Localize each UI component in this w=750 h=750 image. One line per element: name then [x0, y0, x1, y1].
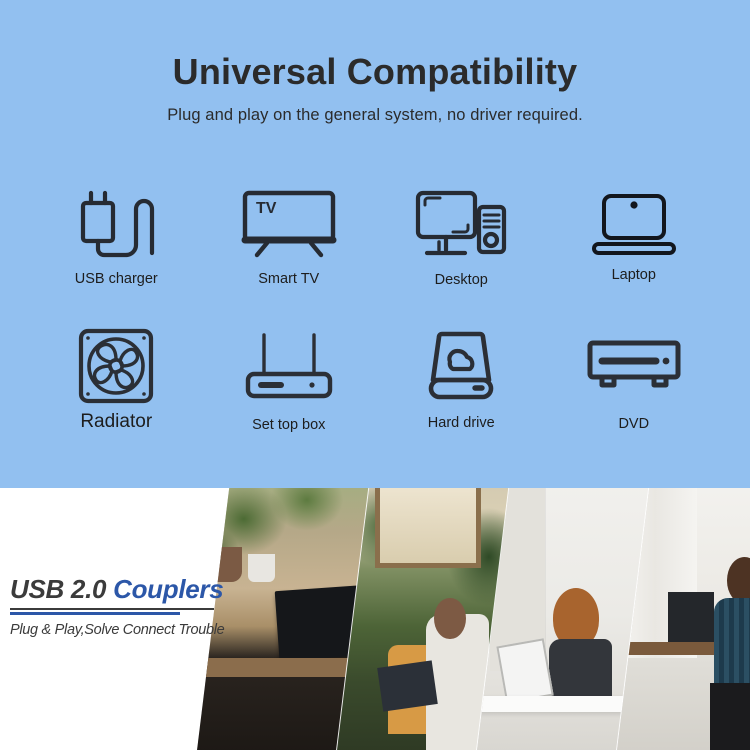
compat-item-smart-tv: TV Smart TV	[203, 185, 376, 288]
page-subtitle: Plug and play on the general system, no …	[0, 106, 750, 125]
compat-item-radiator: Radiator	[30, 327, 203, 433]
compat-item-label: DVD	[618, 416, 649, 432]
banner-text-block: USB 2.0 Couplers Plug & Play,Solve Conne…	[10, 576, 225, 638]
hard-drive-cloud-icon	[425, 327, 497, 405]
compat-item-label: Hard drive	[428, 415, 495, 431]
compat-item-label: Smart TV	[258, 271, 319, 287]
icon-row-1: USB charger TV Smart TV	[30, 185, 720, 288]
page-title: Universal Compatibility	[0, 53, 750, 91]
tv-screen-text: TV	[256, 200, 277, 217]
usb-charger-icon	[74, 185, 158, 263]
compat-item-label: Set top box	[252, 417, 325, 433]
compat-item-set-top-box: Set top box	[203, 327, 376, 433]
banner-divider-blue	[10, 612, 180, 615]
banner-photo-strip	[205, 488, 750, 750]
product-infographic-page: Universal Compatibility Plug and play on…	[0, 0, 750, 750]
banner-tagline: Plug & Play,Solve Connect Trouble	[10, 622, 225, 638]
banner-heading-product: USB 2.0	[10, 574, 106, 604]
compat-item-label: Desktop	[435, 272, 488, 288]
radiator-fan-icon	[78, 327, 154, 405]
product-banner: USB 2.0 Couplers Plug & Play,Solve Conne…	[0, 488, 750, 750]
compat-item-label: Laptop	[612, 267, 656, 283]
banner-divider-dark	[10, 608, 214, 610]
dvd-player-icon	[586, 327, 682, 405]
banner-heading: USB 2.0 Couplers	[10, 576, 225, 602]
compat-item-hard-drive: Hard drive	[375, 327, 548, 433]
icon-row-2: Radiator Set top box	[30, 327, 720, 433]
laptop-icon	[591, 185, 677, 263]
compat-item-laptop: Laptop	[548, 185, 721, 288]
banner-heading-accent: Couplers	[113, 574, 223, 604]
compat-item-dvd: DVD	[548, 327, 721, 433]
compat-item-usb-charger: USB charger	[30, 185, 203, 288]
compat-item-desktop: Desktop	[375, 185, 548, 288]
smart-tv-icon: TV	[241, 185, 337, 263]
set-top-box-router-icon	[244, 327, 334, 405]
compatibility-icon-grid: USB charger TV Smart TV	[30, 185, 720, 433]
compat-item-label: USB charger	[75, 271, 158, 287]
compat-item-label: Radiator	[80, 411, 152, 433]
compatibility-panel: Universal Compatibility Plug and play on…	[0, 0, 750, 488]
desktop-computer-icon	[415, 185, 507, 263]
